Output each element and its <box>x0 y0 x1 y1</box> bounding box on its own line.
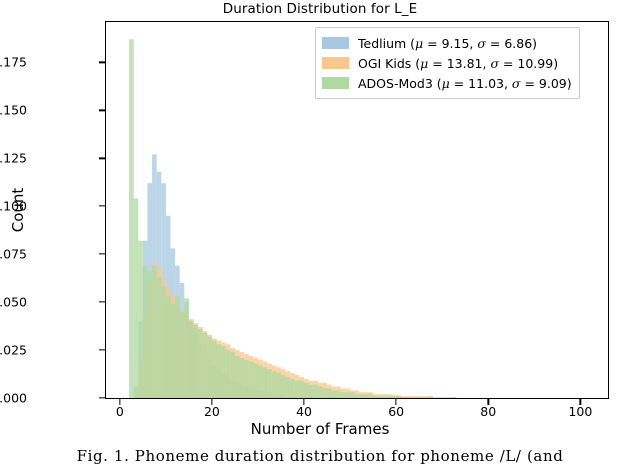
histogram-bar <box>428 396 433 398</box>
histogram-bar <box>451 397 456 398</box>
y-tick-label: 0.000 <box>0 391 27 406</box>
histogram-bar <box>415 397 420 398</box>
histogram-bar <box>152 266 157 398</box>
histogram-bar <box>355 394 360 398</box>
histogram-bar <box>382 396 387 398</box>
legend-item: ADOS-Mod3 (μ = 11.03, σ = 9.09) <box>322 73 572 93</box>
histogram-bar <box>258 365 263 398</box>
y-tick-label: 0.100 <box>0 199 27 214</box>
chart-legend: Tedlium (μ = 9.15, σ = 6.86)OGI Kids (μ … <box>315 27 580 99</box>
x-tick-mark <box>211 399 212 405</box>
histogram-bar <box>170 304 175 398</box>
y-tick-label: 0.150 <box>0 103 27 118</box>
histogram-bar <box>373 396 378 398</box>
histogram-bar <box>332 390 337 398</box>
histogram-bar <box>217 344 222 398</box>
histogram-bar <box>166 296 171 398</box>
histogram-bar <box>396 396 401 398</box>
x-tick-mark <box>303 399 304 405</box>
histogram-bar <box>249 362 254 398</box>
histogram-bar <box>322 388 327 398</box>
histogram-bar <box>198 329 203 398</box>
x-tick-label: 100 <box>568 404 592 419</box>
y-tick-mark <box>99 253 105 254</box>
histogram-bar <box>134 198 139 398</box>
histogram-bar <box>253 363 258 398</box>
histogram-bar <box>419 397 424 398</box>
legend-label: Tedlium (μ = 9.15, σ = 6.86) <box>358 36 537 51</box>
histogram-bar <box>235 356 240 398</box>
histogram-bar <box>405 397 410 398</box>
histogram-bar <box>313 385 318 398</box>
histogram-bar <box>299 381 304 398</box>
histogram-bar <box>410 397 415 398</box>
histogram-bar <box>143 266 148 398</box>
histogram-bar <box>309 385 314 398</box>
histogram-bar <box>286 377 291 398</box>
histogram-bar <box>147 271 152 398</box>
legend-item: Tedlium (μ = 9.15, σ = 6.86) <box>322 33 572 53</box>
histogram-bar <box>378 396 383 398</box>
y-tick-label: 0.050 <box>0 295 27 310</box>
histogram-bar <box>226 350 231 398</box>
figure-caption: Fig. 1. Phoneme duration distribution fo… <box>0 447 640 465</box>
histogram-bar <box>290 379 295 398</box>
y-tick-mark <box>99 206 105 207</box>
y-tick-label: 0.075 <box>0 247 27 262</box>
histogram-bar <box>442 397 447 398</box>
histogram-bar <box>175 296 180 398</box>
legend-label: ADOS-Mod3 (μ = 11.03, σ = 9.09) <box>358 76 572 91</box>
histogram-bar <box>203 333 208 398</box>
histogram-bar <box>295 381 300 398</box>
y-tick-mark <box>99 397 105 398</box>
x-tick-label: 80 <box>480 404 496 419</box>
legend-label: OGI Kids (μ = 13.81, σ = 10.99) <box>358 56 558 71</box>
y-tick-mark <box>99 62 105 63</box>
y-tick-label: 0.025 <box>0 343 27 358</box>
legend-item: OGI Kids (μ = 13.81, σ = 10.99) <box>322 53 572 73</box>
histogram-bar <box>184 298 189 398</box>
histogram-bar <box>345 392 350 398</box>
histogram-bar <box>221 346 226 398</box>
histogram-bar <box>387 396 392 398</box>
x-axis-label: Number of Frames <box>0 420 640 438</box>
histogram-bar <box>281 375 286 398</box>
y-tick-mark <box>99 349 105 350</box>
y-tick-mark <box>99 158 105 159</box>
x-tick-label: 60 <box>388 404 404 419</box>
histogram-bar <box>392 396 397 398</box>
histogram-bar <box>180 312 185 398</box>
figure-container: Duration Distribution for L_E Count 0.00… <box>0 0 640 465</box>
histogram-bar <box>401 397 406 398</box>
histogram-bar <box>267 369 272 398</box>
histogram-bar <box>161 287 166 398</box>
histogram-bar <box>364 394 369 398</box>
histogram-bar <box>138 241 143 398</box>
histogram-bar <box>359 394 364 398</box>
x-tick-label: 0 <box>116 404 124 419</box>
y-tick-mark <box>99 110 105 111</box>
histogram-bar <box>194 325 199 398</box>
x-tick-mark <box>488 399 489 405</box>
histogram-bar <box>212 340 217 398</box>
x-tick-mark <box>119 399 120 405</box>
histogram-bar <box>341 392 346 398</box>
legend-color-swatch <box>322 37 349 49</box>
x-tick-mark <box>395 399 396 405</box>
histogram-bar <box>304 383 309 398</box>
y-tick-label: 0.175 <box>0 55 27 70</box>
histogram-bar <box>240 358 245 398</box>
histogram-bar <box>327 388 332 398</box>
histogram-bar <box>433 397 438 398</box>
histogram-bar <box>157 277 162 398</box>
y-tick-label: 0.125 <box>0 151 27 166</box>
x-tick-label: 20 <box>204 404 220 419</box>
histogram-bar <box>318 386 323 398</box>
histogram-bar <box>350 392 355 398</box>
legend-color-swatch <box>322 77 349 89</box>
histogram-bar <box>129 39 134 398</box>
histogram-bar <box>276 373 281 398</box>
histogram-bar <box>244 360 249 398</box>
y-tick-mark <box>99 301 105 302</box>
chart-title: Duration Distribution for L_E <box>0 1 640 17</box>
histogram-bar <box>369 394 374 398</box>
histogram-bar <box>336 390 341 398</box>
histogram-bar <box>189 321 194 398</box>
histogram-bar <box>230 352 235 398</box>
x-tick-label: 40 <box>296 404 312 419</box>
histogram-bar <box>263 367 268 398</box>
histogram-bar <box>438 397 443 398</box>
histogram-bar <box>272 371 277 398</box>
legend-color-swatch <box>322 57 349 69</box>
histogram-bar <box>207 337 212 398</box>
histogram-bar <box>447 397 452 398</box>
histogram-bar <box>424 397 429 398</box>
x-tick-mark <box>580 399 581 405</box>
